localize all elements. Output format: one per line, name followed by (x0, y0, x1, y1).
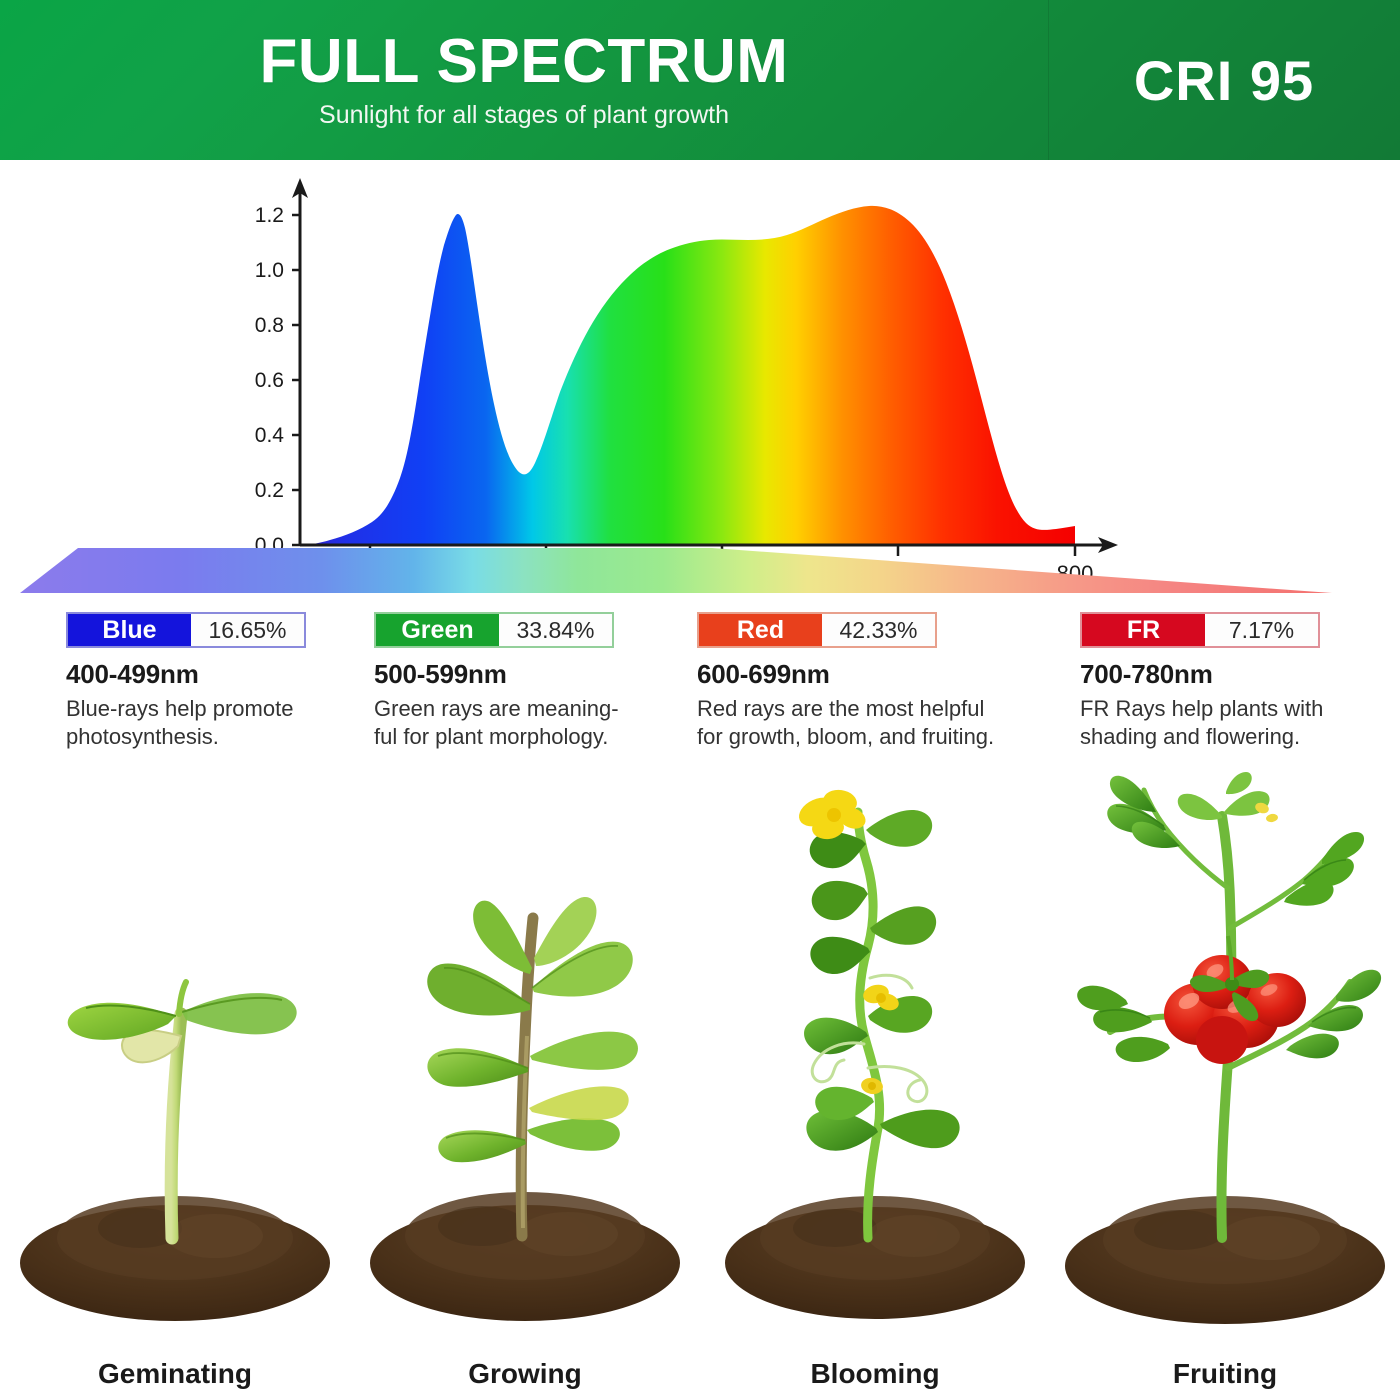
stage-fruiting[interactable]: Fruiting (1050, 760, 1400, 1400)
legend-desc-green-line2: ful for plant morphology. (374, 723, 619, 751)
legend-desc-green-line1: Green rays are meaning- (374, 695, 619, 723)
legend-item-fr[interactable]: FR 7.17% 700-780nm FR Rays help plants w… (1080, 612, 1323, 750)
stage-geminating[interactable]: Geminating (0, 760, 350, 1400)
header-right: CRI 95 (1048, 0, 1400, 160)
legend-desc-fr: FR Rays help plants with shading and flo… (1080, 695, 1323, 750)
y-tick-1: 0.2 (255, 479, 284, 502)
legend-item-blue[interactable]: Blue 16.65% 400-499nm Blue-rays help pro… (66, 612, 306, 750)
legend-name-blue: Blue (68, 614, 191, 646)
legend-desc-fr-line2: shading and flowering. (1080, 723, 1323, 751)
leafy-sapling-icon (350, 768, 700, 1328)
header-banner: FULL SPECTRUM Sunlight for all stages of… (0, 0, 1400, 160)
legend-desc-green: Green rays are meaning- ful for plant mo… (374, 695, 619, 750)
spectrum-band-shape (20, 548, 1332, 593)
stage-label-growing: Growing (350, 1358, 700, 1390)
legend-name-green: Green (376, 614, 499, 646)
spectrum-curve-area (300, 206, 1075, 545)
stage-label-geminating: Geminating (0, 1358, 350, 1390)
legend-desc-red-line2: for growth, bloom, and fruiting. (697, 723, 994, 751)
legend-desc-red-line1: Red rays are the most helpful (697, 695, 994, 723)
header-left: FULL SPECTRUM Sunlight for all stages of… (0, 0, 1048, 160)
legend-percent-red: 42.33% (822, 614, 935, 646)
seedling-sprout-icon (0, 768, 350, 1328)
stage-growing[interactable]: Growing (350, 760, 700, 1400)
page-title: FULL SPECTRUM (260, 30, 789, 93)
legend-desc-fr-line1: FR Rays help plants with (1080, 695, 1323, 723)
legend-desc-blue-line1: Blue-rays help promote (66, 695, 306, 723)
y-axis-tick-labels: 0.0 0.2 0.4 0.6 0.8 1.0 1.2 (255, 204, 285, 557)
flowering-vine-icon (700, 768, 1050, 1328)
y-tick-3: 0.6 (255, 369, 284, 392)
y-tick-5: 1.0 (255, 259, 284, 282)
spectrum-legend: Blue 16.65% 400-499nm Blue-rays help pro… (0, 612, 1400, 762)
page-subtitle: Sunlight for all stages of plant growth (319, 101, 729, 130)
legend-chip-blue: Blue 16.65% (66, 612, 306, 648)
legend-range-fr: 700-780nm (1080, 659, 1323, 690)
legend-item-green[interactable]: Green 33.84% 500-599nm Green rays are me… (374, 612, 619, 750)
legend-desc-blue: Blue-rays help promote photosynthesis. (66, 695, 306, 750)
legend-percent-blue: 16.65% (191, 614, 304, 646)
y-tick-2: 0.4 (255, 424, 285, 447)
legend-desc-blue-line2: photosynthesis. (66, 723, 306, 751)
legend-percent-green: 33.84% (499, 614, 612, 646)
legend-chip-red: Red 42.33% (697, 612, 937, 648)
legend-desc-red: Red rays are the most helpful for growth… (697, 695, 994, 750)
legend-name-fr: FR (1082, 614, 1205, 646)
legend-chip-fr: FR 7.17% (1080, 612, 1320, 648)
spectrum-gradient-band (0, 540, 1400, 600)
legend-range-green: 500-599nm (374, 659, 619, 690)
legend-range-blue: 400-499nm (66, 659, 306, 690)
legend-percent-fr: 7.17% (1205, 614, 1318, 646)
tomato-plant-icon (1050, 768, 1400, 1328)
growth-stages: Geminating (0, 760, 1400, 1400)
stage-label-fruiting: Fruiting (1050, 1358, 1400, 1390)
y-tick-4: 0.8 (255, 314, 284, 337)
legend-name-red: Red (699, 614, 822, 646)
legend-chip-green: Green 33.84% (374, 612, 614, 648)
legend-range-red: 600-699nm (697, 659, 994, 690)
stage-blooming[interactable]: Blooming (700, 760, 1050, 1400)
y-tick-6: 1.2 (255, 204, 284, 227)
stage-label-blooming: Blooming (700, 1358, 1050, 1390)
legend-item-red[interactable]: Red 42.33% 600-699nm Red rays are the mo… (697, 612, 994, 750)
cri-badge: CRI 95 (1134, 48, 1314, 113)
